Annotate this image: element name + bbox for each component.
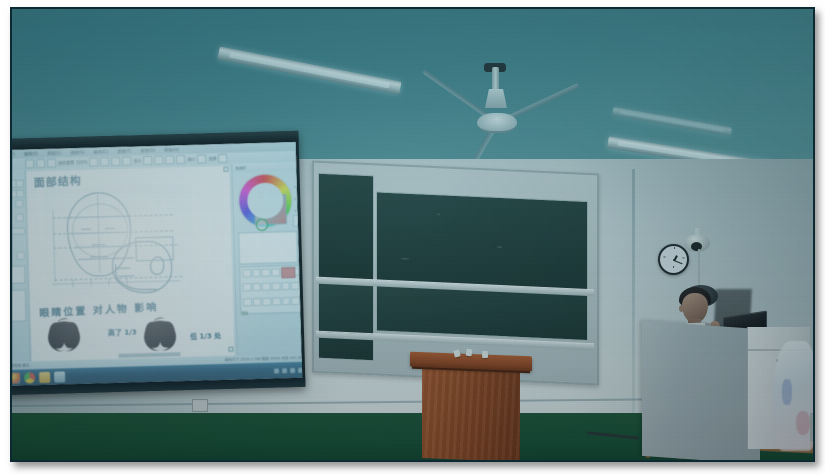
brush-tool-icon[interactable]	[281, 282, 290, 290]
bag-contents	[796, 411, 810, 435]
panel-edge-button[interactable]	[293, 215, 300, 227]
browser-icon[interactable]	[12, 372, 20, 383]
color-panel-header: 色相环	[232, 163, 300, 173]
camera-wire	[698, 249, 700, 287]
explorer-icon[interactable]	[39, 371, 50, 382]
layer-row-1[interactable]: 图层 1	[12, 213, 24, 221]
brush-tool-icon[interactable]	[272, 283, 281, 291]
color-tick-g: G	[294, 197, 296, 201]
toolbar-button[interactable]	[47, 159, 56, 168]
toolbar-button[interactable]	[176, 155, 185, 164]
toolbar-label-zoom-in[interactable]: 放大	[133, 158, 141, 164]
chalk-piece-3	[482, 351, 488, 358]
toolbar-label-rotate-reset[interactable]: 旋转重置	[58, 160, 74, 166]
blend-checkbox-label[interactable]: 混色	[241, 310, 248, 315]
layer-preview-thumbnail[interactable]	[12, 289, 27, 322]
color-panel-title: 色相环	[235, 166, 246, 171]
brush-tool-icon[interactable]	[262, 269, 271, 277]
selection-handle[interactable]	[228, 347, 233, 352]
sai-icon[interactable]	[54, 371, 65, 382]
chalk-piece-2	[466, 349, 473, 357]
fan-bell	[485, 89, 507, 108]
toolbar-label-zoom-out[interactable]: 缩小	[187, 156, 195, 162]
layer-visibility-icon[interactable]	[16, 213, 24, 221]
ceiling-fan-icon	[437, 67, 587, 157]
wall-corner-edge	[632, 169, 635, 429]
menu-item-edit[interactable]: 编辑(E)	[24, 151, 38, 157]
toolbar-button[interactable]	[111, 157, 120, 166]
brush-tool-icon[interactable]	[291, 296, 300, 304]
menu-item-layer[interactable]: 图层(L)	[47, 150, 61, 156]
projection-screen: 文件(F) 编辑(E) 图层(L) 选择(S) 画布(C) 滤镜(T) 其他(O…	[12, 131, 306, 395]
menu-item-file[interactable]: 文件(F)	[12, 151, 15, 157]
clock-minute-hand	[673, 260, 682, 264]
anime-face-right	[142, 318, 179, 353]
color-wheel-marker[interactable]	[256, 219, 268, 231]
layer-lock-icon[interactable]	[17, 251, 25, 259]
podium-body	[422, 368, 520, 460]
toolbar-button[interactable]	[197, 154, 206, 163]
brush-tool-icon[interactable]	[262, 283, 271, 291]
menu-item-help[interactable]: 帮助(H)	[164, 147, 179, 153]
toolbar-button[interactable]	[218, 154, 227, 163]
brush-tool-icon[interactable]	[262, 297, 271, 305]
toolbar-button[interactable]	[25, 159, 34, 168]
layer-preview-thumbnail[interactable]	[12, 265, 26, 284]
toolbar-button[interactable]	[154, 156, 163, 165]
toolbar-button[interactable]	[89, 157, 98, 166]
wall-power-socket-icon	[192, 399, 208, 412]
chalkboard-panel-main	[376, 191, 588, 291]
menu-item-canvas[interactable]: 画布(C)	[93, 149, 108, 155]
projected-desktop: 文件(F) 编辑(E) 图层(L) 选择(S) 画布(C) 滤镜(T) 其他(O…	[12, 142, 302, 386]
photo-container: 文件(F) 编辑(E) 图层(L) 选择(S) 画布(C) 滤镜(T) 其他(O…	[0, 0, 825, 475]
color-tick-r: R	[294, 185, 296, 189]
brush-tool-icon[interactable]	[243, 283, 252, 291]
brush-list-area[interactable]	[238, 231, 298, 265]
chalkboard-panel-left-lower	[318, 281, 374, 362]
toolbar-label-select[interactable]: 选择	[208, 156, 216, 162]
brush-tool-icon[interactable]	[252, 269, 261, 277]
toolbar-button[interactable]	[36, 159, 45, 168]
color-tick-b: B	[294, 209, 296, 213]
menu-item-other[interactable]: 其他(O)	[140, 147, 155, 153]
statusbar-left-text: 选择笔刷 模式	[12, 363, 30, 369]
clock-center-pin	[673, 259, 675, 261]
canvas-note-main: 眼睛位置 对人物 影响	[39, 298, 159, 319]
bag-contents	[782, 379, 792, 405]
sai-color-panel: 色相环 R G B	[231, 163, 302, 365]
chalkboard-panel-left-upper	[318, 173, 374, 282]
brush-tool-icon[interactable]	[291, 282, 300, 290]
wooden-podium	[410, 354, 532, 460]
white-presenter-desk	[642, 321, 760, 460]
layer-row-2[interactable]: 图层 2	[12, 200, 23, 208]
layer-opacity-row: 100%	[12, 233, 24, 241]
layer-extra-row[interactable]	[12, 251, 25, 259]
plastic-bag	[774, 341, 813, 451]
layer-visibility-icon[interactable]	[15, 199, 23, 207]
brush-tool-icon[interactable]	[271, 268, 280, 276]
current-color-swatch[interactable]	[281, 267, 295, 278]
fan-motor-housing	[477, 113, 517, 133]
sai-drawing-canvas[interactable]: 面部结构 图一 头部比例与五官定位参考线	[25, 165, 235, 366]
menu-item-filter[interactable]: 滤镜(T)	[117, 148, 131, 154]
brush-tool-icon[interactable]	[242, 269, 251, 277]
front-face-proportion-sketch	[44, 184, 195, 296]
brush-tool-icon[interactable]	[253, 298, 262, 306]
system-tray[interactable]	[274, 367, 302, 373]
brush-tool-icon[interactable]	[272, 297, 281, 305]
brush-tool-icon[interactable]	[282, 297, 291, 305]
toolbar-button[interactable]	[165, 155, 174, 164]
side-profile-sketch	[105, 236, 179, 294]
menu-item-select[interactable]: 选择(S)	[70, 149, 84, 155]
presenter-ear	[679, 305, 684, 312]
toolbar-button[interactable]	[100, 157, 109, 166]
canvas-note-right: 低 1/3 处	[190, 331, 221, 342]
wall-clock-icon	[658, 244, 689, 275]
anime-face-left	[46, 319, 83, 354]
toolbar-label-zoom-value: 100%	[76, 160, 88, 165]
brush-tool-icon[interactable]	[243, 298, 252, 306]
toolbar-button[interactable]	[122, 156, 131, 165]
security-camera-dome-icon	[684, 235, 710, 252]
classroom-scene: 文件(F) 编辑(E) 图层(L) 选择(S) 画布(C) 滤镜(T) 其他(O…	[12, 9, 813, 460]
sai-application-window: 文件(F) 编辑(E) 图层(L) 选择(S) 画布(C) 滤镜(T) 其他(O…	[12, 142, 302, 386]
color-wheel-icon[interactable]	[239, 174, 292, 227]
selection-handle[interactable]	[223, 167, 228, 172]
chrome-icon[interactable]	[24, 372, 35, 383]
toolbar-button[interactable]	[143, 156, 152, 165]
canvas-note-left: 高了 1/3	[108, 327, 137, 338]
layer-thumbnail-grid[interactable]	[12, 180, 22, 198]
brush-tool-icon[interactable]	[252, 283, 261, 291]
